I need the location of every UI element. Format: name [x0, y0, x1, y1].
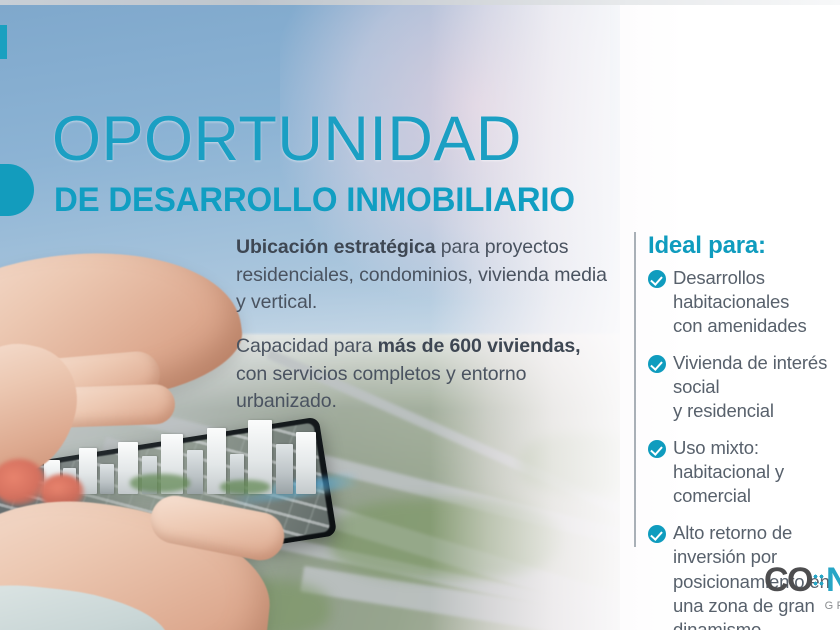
vertical-divider — [634, 232, 636, 547]
building — [100, 464, 114, 494]
logo-wordmark: CON — [764, 563, 840, 597]
body-p2-pre: Capacidad para — [236, 335, 378, 357]
body-paragraph-2: Capacidad para más de 600 viviendas, con… — [236, 333, 616, 416]
city-park — [130, 474, 190, 492]
teal-accent-tab — [0, 25, 7, 59]
check-circle-icon — [648, 440, 666, 458]
body-paragraph-1: Ubicación estratégica para proyectos res… — [236, 234, 616, 317]
body-p2-rest: con servicios completos y entorno urbani… — [236, 363, 526, 413]
list-item-label: Desarrollos habitacionales con amenidade… — [673, 266, 840, 338]
ideal-for-title: Ideal para: — [648, 232, 840, 260]
page-title: OPORTUNIDAD — [52, 108, 522, 171]
city-park — [220, 480, 270, 494]
building — [296, 432, 316, 494]
body-p1-highlight: Ubicación estratégica — [236, 236, 435, 258]
top-edge-band — [0, 0, 840, 5]
brand-logo: CON GRUPO — [764, 563, 840, 612]
building — [276, 444, 293, 494]
page-subtitle: DE DESARROLLO INMOBILIARIO — [54, 183, 575, 217]
logo-subtitle: GRUPO — [764, 600, 840, 612]
body-copy: Ubicación estratégica para proyectos res… — [236, 234, 616, 416]
body-p2-highlight: más de 600 viviendas, — [378, 335, 581, 357]
building — [187, 450, 203, 494]
logo-text-n: N — [826, 563, 840, 597]
logo-dots-icon — [813, 570, 825, 590]
check-circle-icon — [648, 270, 666, 288]
check-circle-icon — [648, 525, 666, 543]
logo-text-co: CO — [764, 563, 812, 597]
list-item: Desarrollos habitacionales con amenidade… — [648, 266, 840, 338]
list-item: Vivienda de interés social y residencial — [648, 351, 840, 423]
list-item-label: Uso mixto: habitacional y comercial — [673, 436, 840, 508]
promotional-slide: OPORTUNIDAD DE DESARROLLO INMOBILIARIO U… — [0, 0, 840, 630]
list-item: Uso mixto: habitacional y comercial — [648, 436, 840, 508]
check-circle-icon — [648, 355, 666, 373]
list-item-label: Vivienda de interés social y residencial — [673, 351, 840, 423]
